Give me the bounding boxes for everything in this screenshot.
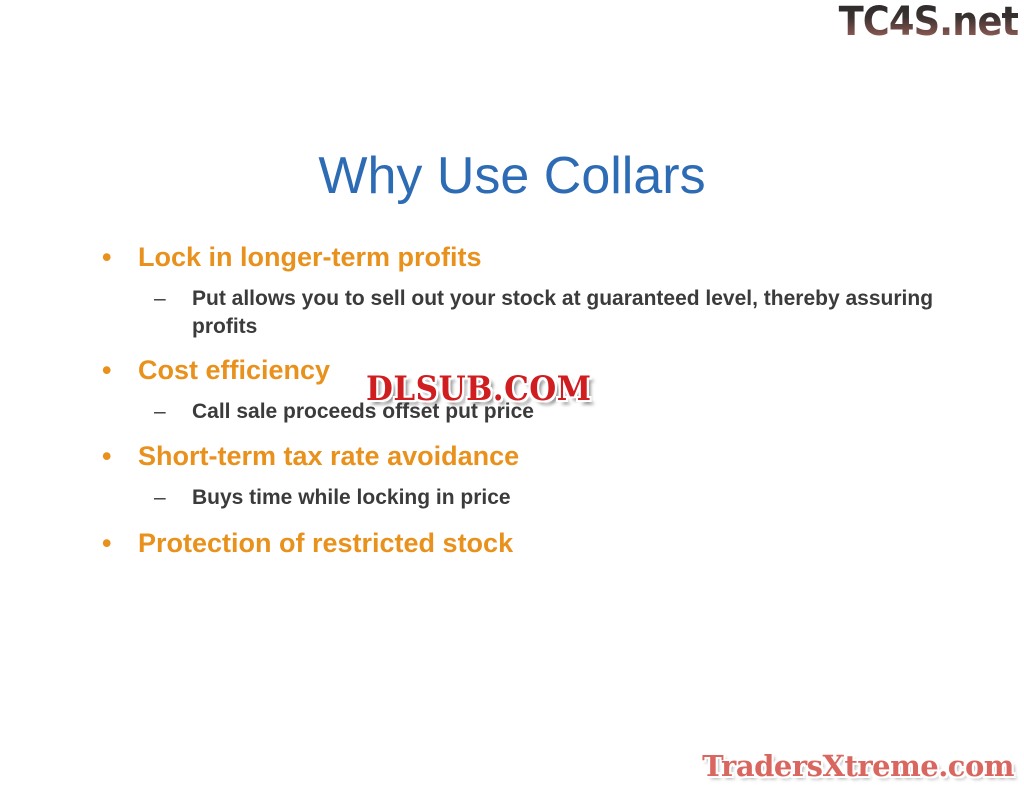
dlsub-logo-watermark: DLSUB.COM	[366, 373, 592, 406]
bullet-level1-label: Lock in longer-term profits	[138, 242, 482, 272]
tc4s-logo-watermark: TC4S.net	[838, 2, 1018, 42]
bullet-level1-label: Protection of restricted stock	[138, 528, 513, 558]
bullet-dot-icon: •	[102, 353, 111, 388]
bullet-dash-icon: –	[154, 285, 166, 313]
bullet-dot-icon: •	[102, 439, 111, 474]
bullet-dot-icon: •	[102, 240, 111, 275]
bullet-level1-protection-restricted-stock: • Protection of restricted stock	[96, 526, 976, 561]
bullet-dot-icon: •	[102, 526, 111, 561]
slide-title: Why Use Collars	[0, 147, 1024, 205]
bullet-level1-label: Short-term tax rate avoidance	[138, 441, 519, 471]
slide-canvas: TC4S.net Why Use Collars • Lock in longe…	[0, 0, 1024, 791]
tradersxtreme-logo-watermark: TradersXtreme.com	[702, 752, 1014, 781]
bullet-level1-label: Cost efficiency	[138, 355, 330, 385]
bullet-level1-lock-in-profits: • Lock in longer-term profits	[96, 240, 976, 275]
bullet-dash-icon: –	[154, 398, 166, 426]
bullet-level2-label: Buys time while locking in price	[192, 486, 511, 509]
bullet-level2-label: Put allows you to sell out your stock at…	[192, 287, 933, 338]
bullet-dash-icon: –	[154, 484, 166, 512]
bullet-level1-short-term-tax: • Short-term tax rate avoidance	[96, 439, 976, 474]
bullet-level2-put-allows: – Put allows you to sell out your stock …	[96, 285, 976, 340]
bullet-level2-buys-time: – Buys time while locking in price	[96, 484, 976, 512]
